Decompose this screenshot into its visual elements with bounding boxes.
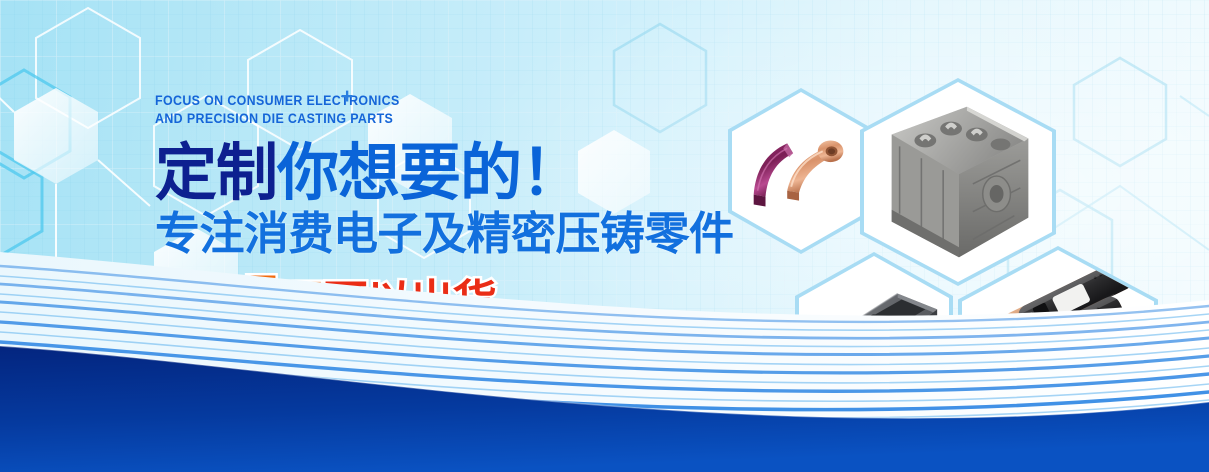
english-tagline-line2: AND PRECISION DIE CASTING PARTS [155,110,744,128]
english-tagline: FOCUS ON CONSUMER ELECTRONICS AND PRECIS… [155,92,795,128]
headline-part-dark: 定制 [155,136,277,209]
page-title: 定制你想要的！ [155,142,795,204]
english-tagline-line1: FOCUS ON CONSUMER ELECTRONICS [155,92,744,110]
decorative-wave [0,242,1209,472]
headline-part-bright: 你想要的！ [277,136,582,209]
promo-banner: FOCUS ON CONSUMER ELECTRONICS AND PRECIS… [0,0,1209,472]
plus-icon: + [341,86,353,107]
product-image-lever-arms [732,92,870,250]
